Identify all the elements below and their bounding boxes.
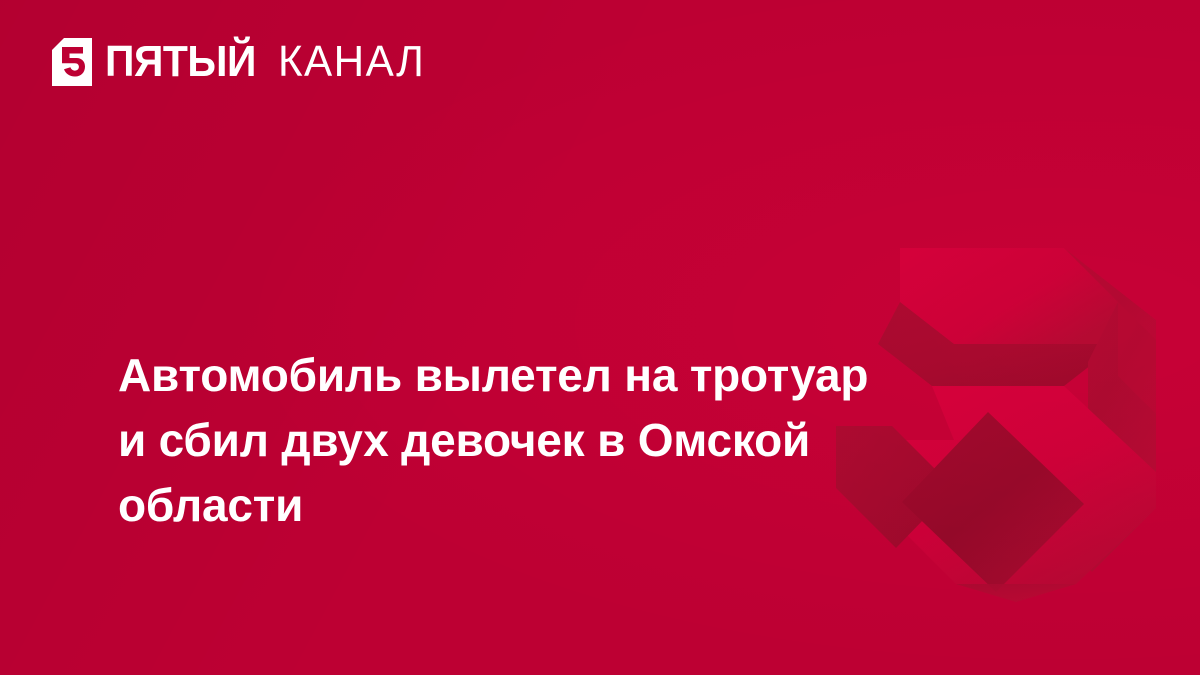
headline: Автомобиль вылетел на тротуар и сбил дву… <box>118 343 948 538</box>
five-in-clipped-square-icon <box>52 38 92 86</box>
headline-line-2: и сбил двух девочек в Омской <box>118 408 948 473</box>
brand-logo[interactable]: ПЯТЫЙ КАНАЛ <box>52 36 432 88</box>
brand-wordmark: ПЯТЫЙ КАНАЛ <box>105 40 432 84</box>
brand-name-bold: ПЯТЫЙ <box>105 40 256 84</box>
news-share-card: ПЯТЫЙ КАНАЛ Автомобиль вылетел на тротуа… <box>0 0 1200 675</box>
headline-line-3: области <box>118 473 948 538</box>
headline-line-1: Автомобиль вылетел на тротуар <box>118 343 948 408</box>
brand-name-light: КАНАЛ <box>278 40 425 84</box>
